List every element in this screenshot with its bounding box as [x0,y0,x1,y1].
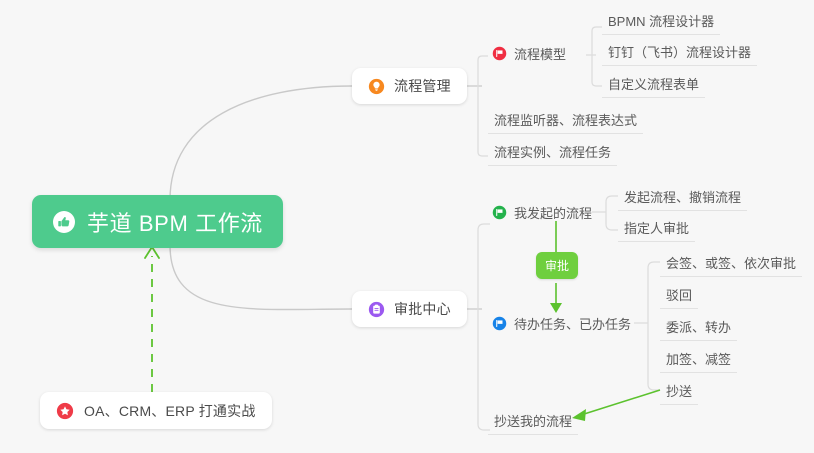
wire-root-to-process-management [170,86,352,200]
leaf-bpmn-designer[interactable]: BPMN 流程设计器 [602,11,720,35]
bracket-process-model [592,27,602,86]
thumbs-up-icon [52,210,76,234]
subhead-my-initiated[interactable]: 我发起的流程 [492,203,592,225]
bracket-process-management [478,56,488,156]
callout-label: OA、CRM、ERP 打通实战 [84,401,256,421]
leaf-delegate-transfer[interactable]: 委派、转办 [660,317,737,341]
root-node[interactable]: 芋道 BPM 工作流 [32,195,283,248]
arrow-cc-line [581,390,660,415]
leaf-process-listener-expression[interactable]: 流程监听器、流程表达式 [488,110,643,134]
red-flag-icon [492,46,507,61]
leaf-cc-to-me-process[interactable]: 抄送我的流程 [488,411,578,435]
leaf-start-cancel-process[interactable]: 发起流程、撤销流程 [618,187,747,211]
branch-label-process-management: 流程管理 [394,76,451,96]
branch-node-approval-center[interactable]: 审批中心 [352,291,467,327]
leaf-dingtalk-feishu-designer[interactable]: 钉钉（飞书）流程设计器 [602,42,757,66]
mindmap-canvas: 芋道 BPM 工作流 流程管理 流程模型 BPMN 流程设计器 钉钉（飞书）流程… [0,0,814,453]
leaf-process-instance-task[interactable]: 流程实例、流程任务 [488,142,617,166]
arrow-callout-head [145,247,159,258]
bracket-todo-done [648,262,660,390]
branch-label-approval-center: 审批中心 [394,299,451,319]
blue-flag-icon [492,316,507,331]
subhead-process-model[interactable]: 流程模型 [492,44,566,66]
leaf-reject[interactable]: 驳回 [660,285,698,309]
arrow-approval-flow-head [550,303,562,313]
root-label: 芋道 BPM 工作流 [87,206,263,238]
branch-node-process-management[interactable]: 流程管理 [352,68,467,104]
wire-root-to-approval-center [170,245,352,310]
subhead-label-todo-done: 待办任务、已办任务 [514,314,631,333]
bracket-my-initiated [606,196,618,230]
star-icon [56,402,74,420]
bracket-approval-center [478,224,490,430]
leaf-add-remove-sign[interactable]: 加签、减签 [660,349,737,373]
lightbulb-icon [368,78,385,95]
leaf-carbon-copy[interactable]: 抄送 [660,381,698,405]
subhead-label-process-model: 流程模型 [514,44,566,63]
leaf-countersign-orsign-sequential[interactable]: 会签、或签、依次审批 [660,253,802,277]
subhead-label-my-initiated: 我发起的流程 [514,203,592,222]
leaf-assignee-approval[interactable]: 指定人审批 [618,218,695,242]
leaf-custom-process-form[interactable]: 自定义流程表单 [602,74,705,98]
approval-badge[interactable]: 审批 [536,252,578,279]
subhead-todo-done[interactable]: 待办任务、已办任务 [492,314,631,336]
callout-node-integration[interactable]: OA、CRM、ERP 打通实战 [40,392,272,429]
green-flag-icon [492,205,507,220]
clipboard-icon [368,301,385,318]
